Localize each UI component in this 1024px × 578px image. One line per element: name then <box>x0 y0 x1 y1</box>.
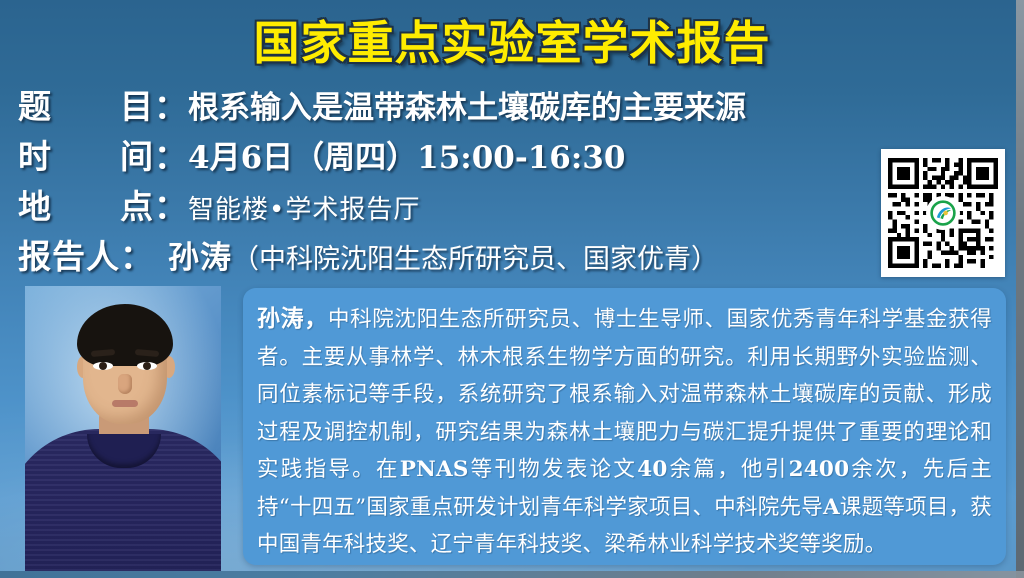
bio-part1: 中科院沈阳生态所研究员、博士生导师、国家优秀青年科学基金获得者。主要从事林学、林… <box>257 307 992 482</box>
bio-journal: PNAS <box>400 457 469 482</box>
bio-program-code: A <box>823 495 840 520</box>
speaker-bio-box: 孙涛，中科院沈阳生态所研究员、博士生导师、国家优秀青年科学基金获得者。主要从事林… <box>243 288 1006 565</box>
info-row-speaker: 报告人： 孙涛（中科院沈阳生态所研究员、国家优青） <box>18 230 898 280</box>
info-row-topic: 题 目： 根系输入是温带森林土壤碳库的主要来源 <box>18 80 898 130</box>
qr-code[interactable] <box>881 149 1005 277</box>
bio-part2: 等刊物发表论文 <box>469 457 638 482</box>
photo-nose <box>118 374 132 394</box>
bio-name-comma: ， <box>304 305 328 332</box>
bio-citation-count: 2400 <box>789 457 850 482</box>
bio-name: 孙涛 <box>257 305 304 332</box>
seminar-poster: 国家重点实验室学术报告 题 目： 根系输入是温带森林土壤碳库的主要来源 时 间：… <box>0 0 1024 578</box>
topic-label: 题 目： <box>18 80 188 128</box>
time-label: 时 间： <box>18 130 188 178</box>
place-label: 地 点： <box>18 180 188 228</box>
speaker-name: 孙涛 <box>168 240 232 276</box>
bio-part3: 余篇，他引 <box>668 457 789 482</box>
logo-glyph-icon <box>929 199 957 227</box>
page-title: 国家重点实验室学术报告 <box>0 7 1024 73</box>
photo-eye-left <box>93 362 113 370</box>
photo-eye-right <box>137 362 157 370</box>
info-row-place: 地 点： 智能楼•学术报告厅 <box>18 180 898 230</box>
time-value: 4月6日（周四）15:00-16:30 <box>188 132 625 177</box>
page-edge-bottom <box>0 571 1024 578</box>
info-row-time: 时 间： 4月6日（周四）15:00-16:30 <box>18 130 898 180</box>
speaker-photo <box>25 286 221 571</box>
qr-center-logo-icon <box>928 198 958 228</box>
photo-mouth <box>112 400 138 407</box>
topic-value: 根系输入是温带森林土壤碳库的主要来源 <box>188 82 746 127</box>
speaker-value: 孙涛（中科院沈阳生态所研究员、国家优青） <box>168 232 718 277</box>
speaker-label: 报告人： <box>18 230 168 278</box>
place-value: 智能楼•学术报告厅 <box>188 189 420 226</box>
page-edge-right <box>1016 0 1024 578</box>
info-rows: 题 目： 根系输入是温带森林土壤碳库的主要来源 时 间： 4月6日（周四）15:… <box>18 80 898 280</box>
bio-paper-count: 40 <box>637 457 667 482</box>
speaker-bio-text: 孙涛，中科院沈阳生态所研究员、博士生导师、国家优秀青年科学基金获得者。主要从事林… <box>257 300 992 564</box>
speaker-affiliation: （中科院沈阳生态所研究员、国家优青） <box>232 244 718 275</box>
